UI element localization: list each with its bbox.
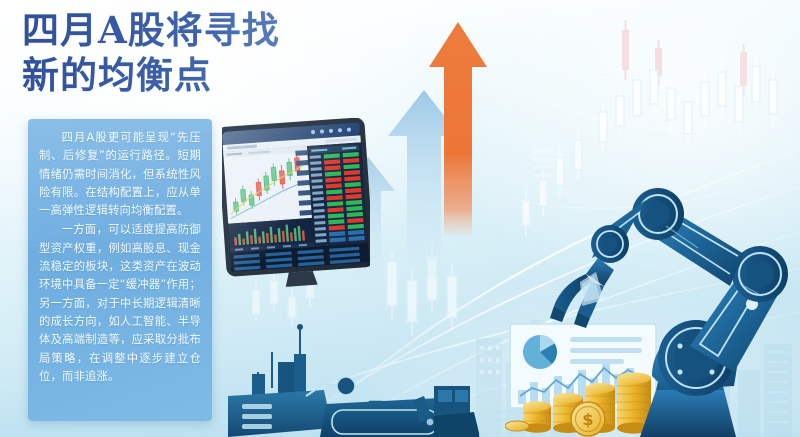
robot-arm [548,176,800,437]
factory-machinery [228,300,528,437]
infographic-poster: $ [0,0,800,437]
page-title: 四月A股将寻找 新的均衡点 [22,8,442,98]
article-summary-card: 四月A股更可能呈现“先压制、后修复”的运行路径。短期情绪仍需时间消化，但系统性风… [28,119,212,421]
stock-monitor [222,118,370,290]
summary-paragraph-2: 一方面，可以适度提高防御型资产权重，例如高股息、现金流稳定的板块，这类资产在波动… [39,221,201,386]
summary-paragraph-1: 四月A股更可能呈现“先压制、后修复”的运行路径。短期情绪仍需时间消化，但系统性风… [39,129,201,220]
